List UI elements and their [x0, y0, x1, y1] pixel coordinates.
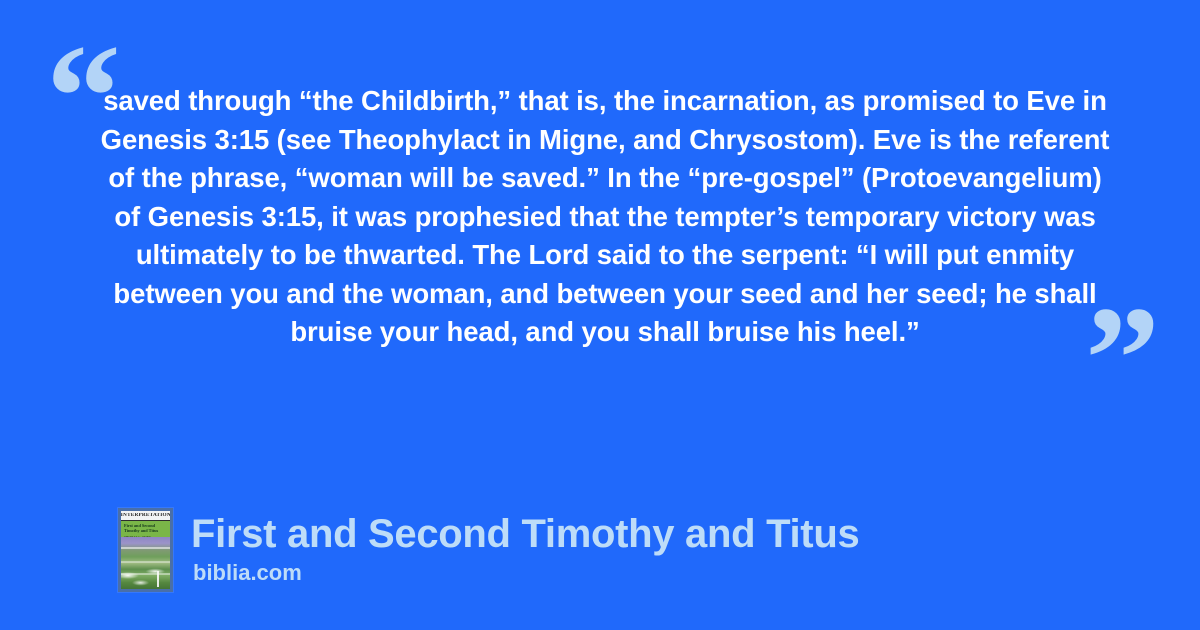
artwork-streak — [121, 561, 170, 563]
artwork-streak — [121, 573, 170, 575]
site-name: biblia.com — [193, 560, 859, 586]
artwork-streak — [121, 547, 170, 549]
book-title: First and Second Timothy and Titus — [191, 512, 859, 556]
quote-card: “ saved through “the Childbirth,” that i… — [0, 0, 1200, 630]
artwork-post — [157, 571, 159, 587]
quote-container: saved through “the Childbirth,” that is,… — [100, 82, 1110, 412]
book-cover-series-label: INTERPRETATION — [121, 513, 170, 518]
book-cover-inner: INTERPRETATION First and Second Timothy … — [121, 511, 170, 589]
attribution-footer: INTERPRETATION First and Second Timothy … — [118, 508, 859, 592]
book-cover-thumbnail: INTERPRETATION First and Second Timothy … — [118, 508, 173, 592]
book-cover-title: First and Second Timothy and Titus — [124, 523, 167, 533]
closing-quote-icon: ” — [1085, 284, 1158, 434]
quote-text: saved through “the Childbirth,” that is,… — [100, 82, 1110, 352]
book-cover-artwork — [121, 537, 170, 589]
attribution-text-group: First and Second Timothy and Titus bibli… — [191, 508, 859, 586]
book-cover-series-band: INTERPRETATION — [121, 511, 170, 521]
